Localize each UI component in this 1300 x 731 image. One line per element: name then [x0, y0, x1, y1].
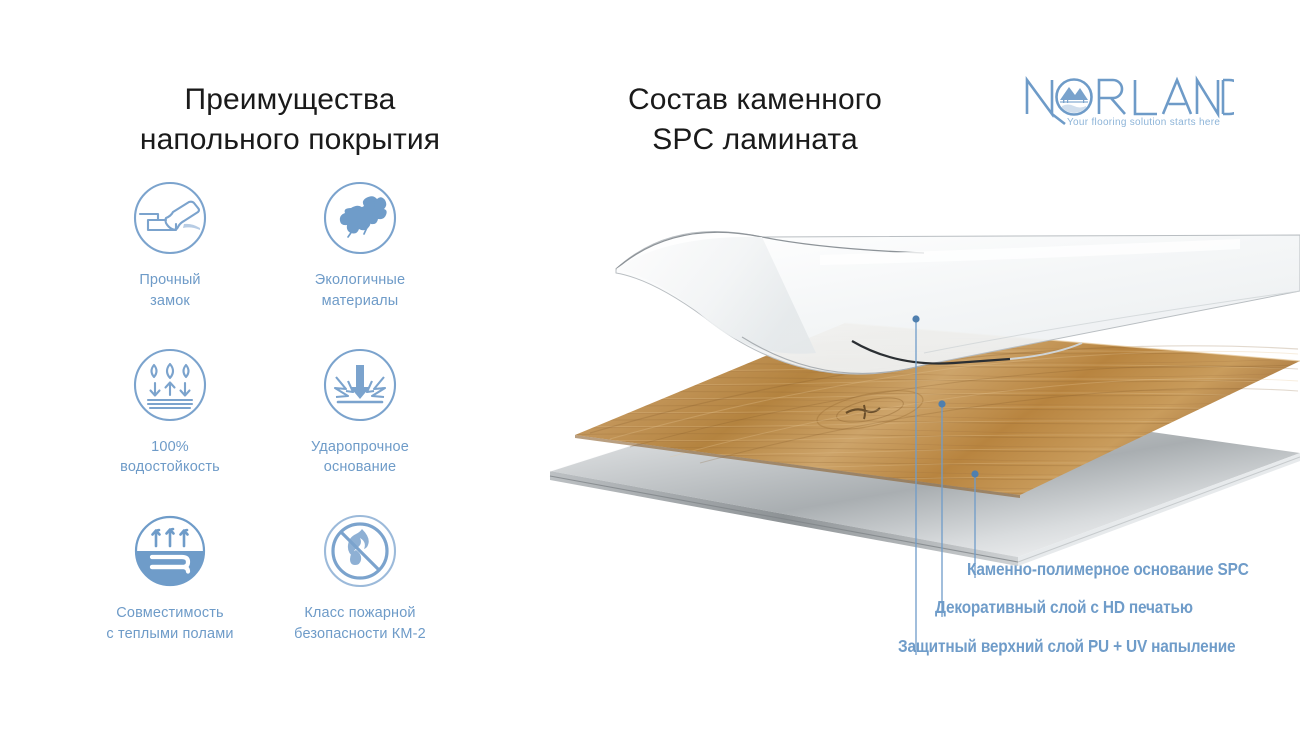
impact-resistant-icon — [322, 347, 398, 423]
feature-caption: Прочный замок — [139, 270, 200, 311]
callout-dot-decor — [938, 400, 945, 407]
layer-callouts — [520, 195, 1300, 675]
feature-waterproof: 100% водостойкость — [75, 347, 265, 514]
waterproof-drops-icon — [132, 347, 208, 423]
eco-leaves-icon — [322, 180, 398, 256]
feature-underfloor-heating: Совместимость с теплыми полами — [75, 513, 265, 680]
benefits-grid: Прочный замок Экологичные материалы — [75, 180, 455, 680]
feature-impact-resistant: Ударопрочное основание — [265, 347, 455, 514]
feature-fire-class: Класс пожарной безопасности КМ-2 — [265, 513, 455, 680]
norland-logo: Your flooring solution starts here — [1019, 70, 1234, 132]
logo-tagline: Your flooring solution starts here — [1067, 117, 1220, 128]
no-fire-icon — [322, 513, 398, 589]
underfloor-heating-icon — [132, 513, 208, 589]
callout-dot-base — [971, 470, 978, 477]
click-lock-icon — [132, 180, 208, 256]
callout-dot-wear — [912, 315, 919, 322]
mountain-emblem-icon — [1057, 80, 1092, 115]
feature-eco-materials: Экологичные материалы — [265, 180, 455, 347]
feature-caption: 100% водостойкость — [120, 437, 220, 478]
slide-canvas: Преимущества напольного покрытия Состав … — [0, 0, 1300, 731]
feature-caption: Ударопрочное основание — [311, 437, 409, 478]
feature-caption: Экологичные материалы — [315, 270, 405, 311]
page-title-benefits: Преимущества напольного покрытия — [40, 80, 540, 160]
feature-caption: Совместимость с теплыми полами — [106, 603, 233, 644]
feature-caption: Класс пожарной безопасности КМ-2 — [294, 603, 426, 644]
page-title-composition: Состав каменного SPC ламината — [545, 80, 965, 160]
feature-click-lock: Прочный замок — [75, 180, 265, 347]
